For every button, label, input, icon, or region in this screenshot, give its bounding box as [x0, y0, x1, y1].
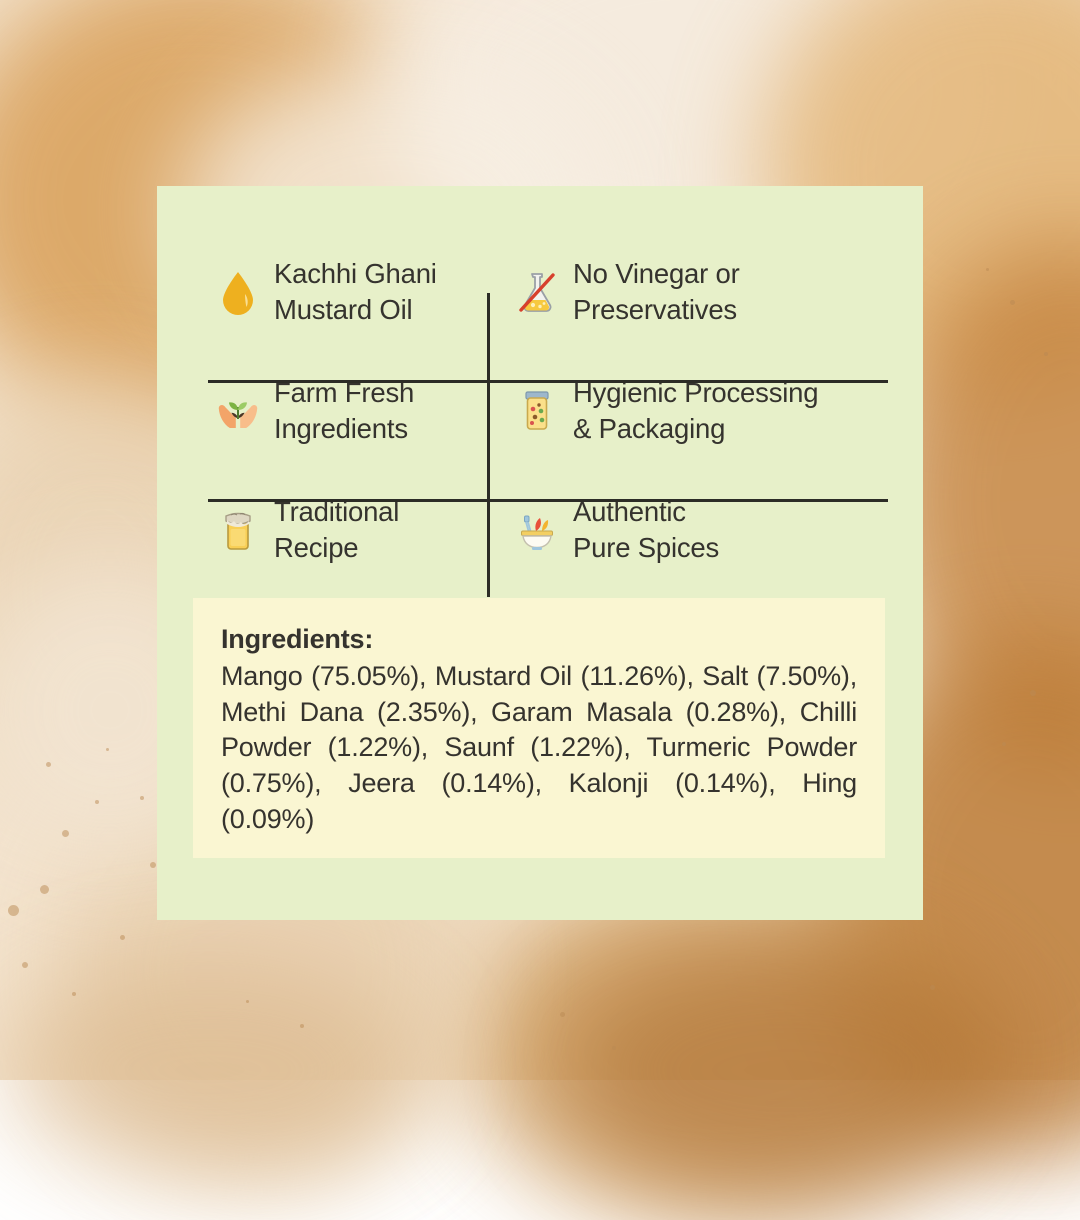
spice-bowl-icon — [515, 507, 559, 553]
no-vinegar-flask-icon — [515, 269, 559, 315]
feature-row: Traditional Recipe Authentic Pure — [208, 470, 888, 589]
background-speckle — [246, 1000, 249, 1003]
background-speckle — [1010, 300, 1015, 305]
background-speckle — [1030, 690, 1036, 696]
background-speckle — [72, 992, 76, 996]
oil-droplet-icon — [216, 269, 260, 315]
product-feature-card: Kachhi Ghani Mustard Oil No Vinegar or P… — [157, 186, 923, 920]
background-wash — [0, 960, 420, 1180]
background-speckle — [1044, 352, 1048, 356]
grid-divider-horizontal — [208, 380, 888, 383]
feature-item-kachhi-ghani-mustard-oil: Kachhi Ghani Mustard Oil — [208, 232, 487, 351]
feature-row: Farm Fresh Ingredients Hygienic Pr — [208, 351, 888, 470]
background-speckle — [95, 800, 99, 804]
feature-row: Kachhi Ghani Mustard Oil No Vinegar or P… — [208, 232, 888, 351]
pickle-jar-icon — [216, 507, 260, 553]
background-speckle — [22, 962, 28, 968]
feature-label: Farm Fresh Ingredients — [274, 375, 414, 447]
background-speckle — [62, 830, 69, 837]
background-speckle — [106, 748, 109, 751]
feature-label: Traditional Recipe — [274, 494, 399, 566]
background-speckle — [120, 935, 125, 940]
feature-label: Hygienic Processing & Packaging — [573, 375, 818, 447]
ingredients-title: Ingredients: — [221, 624, 857, 655]
background-speckle — [140, 796, 144, 800]
background-speckle — [1002, 742, 1006, 746]
background-speckle — [150, 862, 156, 868]
feature-grid: Kachhi Ghani Mustard Oil No Vinegar or P… — [208, 232, 888, 596]
feature-item-authentic-pure-spices: Authentic Pure Spices — [487, 470, 882, 589]
feature-item-traditional-recipe: Traditional Recipe — [208, 470, 487, 589]
background-speckle — [46, 762, 51, 767]
grid-divider-horizontal — [208, 499, 888, 502]
background-wash — [460, 880, 980, 1220]
background-speckle — [930, 985, 935, 990]
feature-label: Authentic Pure Spices — [573, 494, 719, 566]
grid-divider-vertical — [487, 293, 490, 597]
feature-item-farm-fresh-ingredients: Farm Fresh Ingredients — [208, 351, 487, 470]
spice-jar-icon — [515, 388, 559, 434]
background-speckle — [8, 905, 19, 916]
ingredients-text: Mango (75.05%), Mustard Oil (11.26%), Sa… — [221, 659, 857, 837]
feature-label: Kachhi Ghani Mustard Oil — [274, 256, 437, 328]
feature-item-no-vinegar-or-preservatives: No Vinegar or Preservatives — [487, 232, 882, 351]
feature-item-hygienic-processing-packaging: Hygienic Processing & Packaging — [487, 351, 882, 470]
background-wash — [560, 940, 1020, 1200]
background-speckle — [560, 1012, 565, 1017]
feature-label: No Vinegar or Preservatives — [573, 256, 740, 328]
ingredients-panel: Ingredients: Mango (75.05%), Mustard Oil… — [193, 598, 885, 858]
background-speckle — [612, 1046, 616, 1050]
hands-seedling-icon — [216, 388, 260, 434]
background-speckle — [40, 885, 49, 894]
background-speckle — [300, 1024, 304, 1028]
background-speckle — [986, 268, 989, 271]
